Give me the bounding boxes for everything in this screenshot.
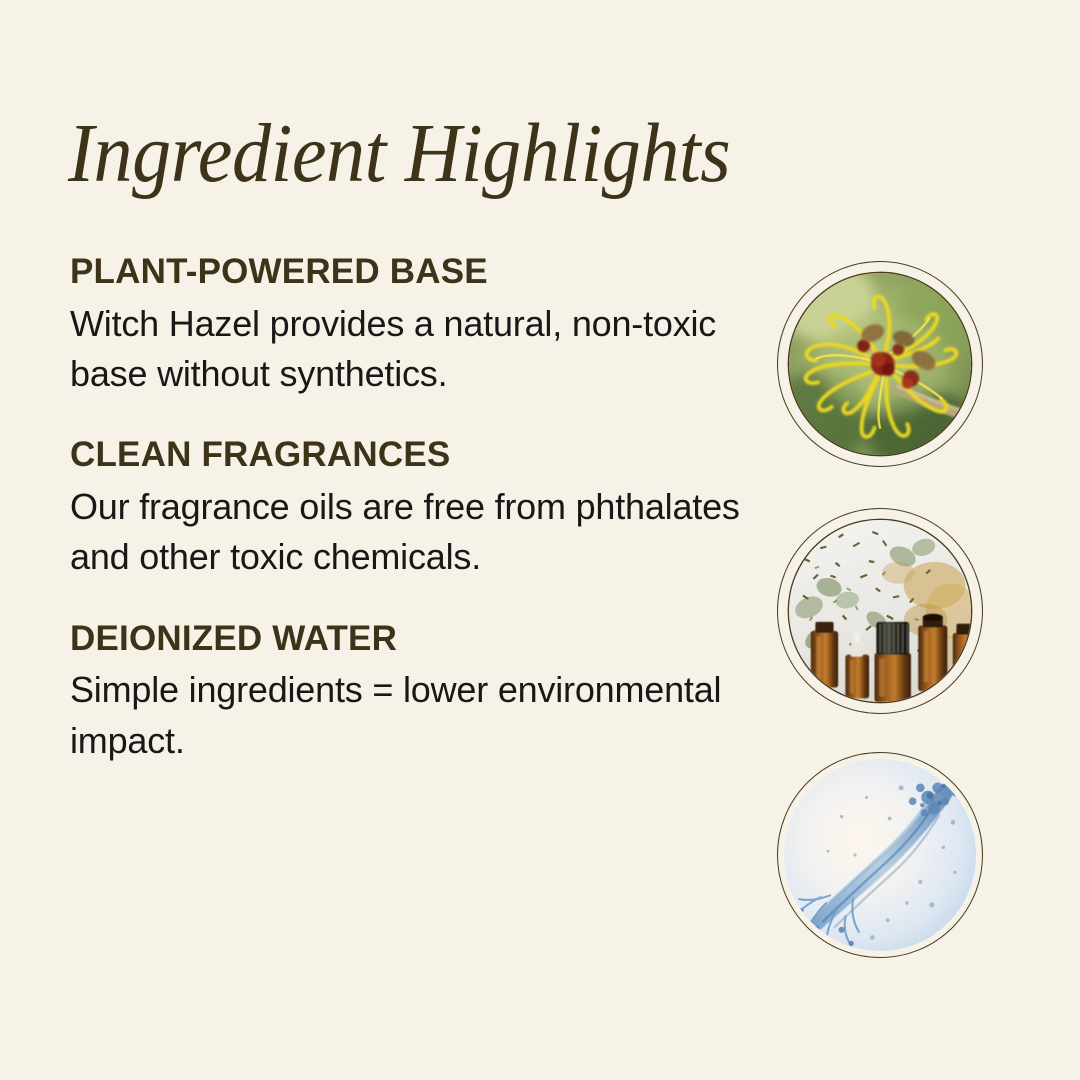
feature-item: CLEAN FRAGRANCES Our fragrance oils are … bbox=[70, 435, 760, 582]
feature-item: PLANT-POWERED BASE Witch Hazel provides … bbox=[70, 252, 760, 399]
feature-title: DEIONIZED WATER bbox=[70, 619, 760, 660]
feature-title: CLEAN FRAGRANCES bbox=[70, 435, 760, 476]
feature-body: Simple ingredients = lower environmental… bbox=[70, 665, 760, 766]
ingredient-highlights-card: Ingredient Highlights PLANT-POWERED BASE… bbox=[0, 0, 1080, 1080]
water-splash-photo bbox=[784, 759, 976, 951]
feature-body: Witch Hazel provides a natural, non-toxi… bbox=[70, 299, 760, 400]
feature-image-column bbox=[777, 0, 987, 1080]
feature-item: DEIONIZED WATER Simple ingredients = low… bbox=[70, 619, 760, 766]
feature-image-ring bbox=[777, 261, 983, 467]
page-title: Ingredient Highlights bbox=[68, 112, 730, 196]
witch-hazel-flower-photo bbox=[789, 273, 971, 455]
feature-title: PLANT-POWERED BASE bbox=[70, 252, 760, 293]
feature-image-ring bbox=[777, 752, 983, 958]
feature-image-ring bbox=[777, 508, 983, 714]
essential-oil-bottles-photo bbox=[789, 520, 971, 702]
feature-list: PLANT-POWERED BASE Witch Hazel provides … bbox=[70, 252, 760, 766]
feature-body: Our fragrance oils are free from phthala… bbox=[70, 482, 760, 583]
